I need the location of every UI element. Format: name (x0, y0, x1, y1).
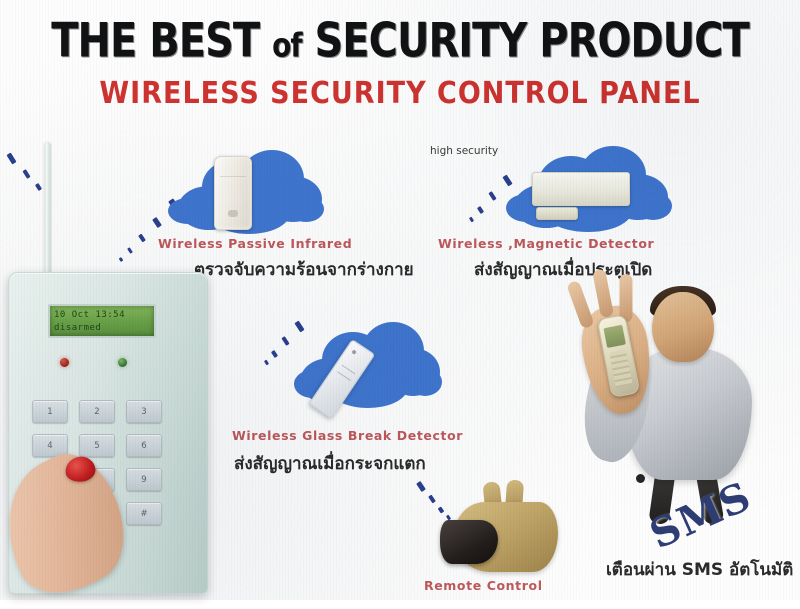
caption-wireless-magnetic-detector: Wireless ,Magnetic Detector (438, 236, 654, 251)
glassbreak-line-1 (342, 365, 356, 375)
headline-of: of (272, 26, 301, 65)
panel-antenna (44, 142, 51, 284)
device-pir-sensor (214, 156, 252, 230)
note-high-security: high security (430, 145, 498, 157)
headline-part2: SECURITY PRODUCT (314, 14, 748, 68)
led-power-indicator (118, 358, 127, 367)
wireless-control-panel[interactable]: 10 Oct 13:54 disarmed 1 2 3 4 5 6 7 8 9 (8, 272, 218, 592)
key-1[interactable]: 1 (32, 400, 68, 423)
man-finger-1 (566, 280, 595, 330)
key-9[interactable]: 9 (126, 468, 162, 491)
caption-th-sms-alert: เตือนผ่าน SMS อัตโนมัติ (606, 556, 793, 583)
lcd-line-status: disarmed (54, 322, 150, 335)
man-finger-3 (619, 274, 632, 322)
status-led-group (48, 356, 158, 370)
key-2[interactable]: 2 (79, 400, 115, 423)
page-subtitle: WIRELESS SECURITY CONTROL PANEL (0, 76, 800, 111)
signal-waves-antenna-icon (4, 150, 74, 210)
device-magnetic-contact (532, 172, 630, 206)
lcd-display: 10 Oct 13:54 disarmed (48, 304, 156, 338)
caption-wireless-passive-infrared: Wireless Passive Infrared (158, 236, 352, 251)
key-hash[interactable]: # (126, 502, 162, 525)
poster-canvas: THE BEST of SECURITY PRODUCT WIRELESS SE… (0, 0, 800, 600)
phone-keypad (609, 349, 633, 388)
caption-th-wireless-glass-break-detector: ส่งสัญญาณเมื่อกระจกแตก (234, 450, 426, 477)
lcd-line-datetime: 10 Oct 13:54 (54, 309, 150, 322)
device-remote-control (440, 486, 560, 578)
key-5[interactable]: 5 (79, 434, 115, 457)
glassbreak-indicator (351, 349, 357, 355)
key-3[interactable]: 3 (126, 400, 162, 423)
glassbreak-line-2 (337, 371, 351, 381)
man-head (652, 292, 714, 362)
keypad-row: 1 2 3 (32, 400, 182, 423)
caption-th-wireless-passive-infrared: ตรวจจับความร้อนจากร่างกาย (194, 256, 414, 283)
headline-part1: THE BEST (51, 14, 259, 68)
caption-wireless-glass-break-detector: Wireless Glass Break Detector (232, 428, 463, 443)
led-armed-indicator (60, 358, 69, 367)
pir-lens (228, 210, 238, 217)
remote-body (440, 520, 498, 564)
keypad-row: 4 5 6 (32, 434, 182, 457)
device-magnetic-magnet (536, 207, 578, 220)
page-title: THE BEST of SECURITY PRODUCT (0, 14, 800, 68)
pir-seam (220, 176, 246, 177)
sms-dot-decoration (636, 474, 645, 483)
caption-remote-control: Remote Control (424, 578, 543, 593)
phone-screen (603, 325, 625, 348)
key-6[interactable]: 6 (126, 434, 162, 457)
